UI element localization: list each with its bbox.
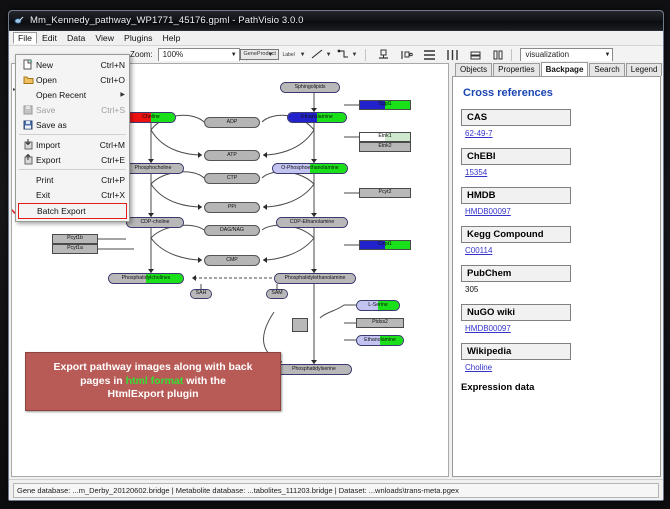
file-menu-item-label: Save [36,105,97,115]
visualization-value: visualization [525,50,569,59]
file-menu-item-shortcut: Ctrl+P [97,175,125,185]
xref-db-nugo-wiki: NuGO wiki [461,304,571,321]
node-label: Pcyt1a [53,246,97,251]
menu-data[interactable]: Data [62,32,90,44]
pathway-complex-box[interactable] [292,318,308,332]
file-menu-item-shortcut: Ctrl+N [97,60,125,70]
node-label: Sphingolipids [281,85,339,90]
node-label: DAG/NAG [205,228,259,233]
connector-dropdown-icon[interactable]: ▼ [352,52,358,58]
window-titlebar: Mm_Kennedy_pathway_WP1771_45176.gpml - P… [9,11,663,31]
visualization-combo[interactable]: visualization ▼ [520,48,613,62]
file-menu-item-label: New [36,60,97,70]
side-panel-tabs: Objects Properties Backpage Search Legen… [452,63,661,76]
node-label: CTP [205,176,259,181]
node-label: Ethanolamine [357,338,403,343]
gene-node-etnk1[interactable]: Etnk1 [359,132,411,142]
xref-link[interactable]: C00114 [465,246,492,255]
align-top-icon[interactable] [376,48,390,61]
open-folder-icon [20,74,36,85]
node-label: Phosphatidylcholines [109,276,183,281]
pathvisio-window: Mm_Kennedy_pathway_WP1771_45176.gpml - P… [8,10,664,501]
metabolite-node-ethanolamine[interactable]: Ethanolamine [356,335,404,346]
statusbar: Gene database: ...m_Derby_20120602.bridg… [9,479,663,500]
callout-line-2b: with the [183,375,226,387]
tab-legend[interactable]: Legend [626,63,663,76]
callout-line-3: HtmlExport plugin [108,388,199,400]
file-menu-item-label: Exit [36,190,97,200]
file-menu-item-open-recent[interactable]: Open Recent▶ [16,87,129,102]
file-menu-item-export[interactable]: ExportCtrl+E [16,152,129,167]
node-label: Ptdss2 [357,320,403,325]
menu-separator [19,134,126,135]
file-menu-item-shortcut: Ctrl+M [96,140,125,150]
metabolite-node-sam[interactable]: SAM [266,289,288,299]
gene-node-sgpl1[interactable]: Sgpl1 [359,100,411,110]
metabolite-node-sah[interactable]: SAH [190,289,212,299]
xref-link[interactable]: Choline [465,363,492,372]
new-document-icon [20,59,36,70]
menubar: File Edit Data View Plugins Help [9,31,663,46]
file-menu-item-save-as[interactable]: Save as [16,117,129,132]
menu-view[interactable]: View [90,32,119,44]
distribute-horizontal-icon[interactable] [445,48,459,61]
xref-value-wikipedia[interactable]: Choline [465,363,652,372]
xref-db-hmdb: HMDB [461,187,571,204]
tab-properties[interactable]: Properties [493,63,539,76]
xref-db-chebi: ChEBI [461,148,571,165]
node-label: Etnk1 [360,134,410,139]
tab-search[interactable]: Search [589,63,624,76]
xref-link[interactable]: HMDB00097 [465,324,511,333]
node-label: SAM [267,291,287,296]
metabolite-node-phosphocholine[interactable]: Phosphocholine [122,163,184,174]
node-label: CDP-Ethanolamine [277,220,347,225]
window-title: Mm_Kennedy_pathway_WP1771_45176.gpml - P… [30,15,304,26]
metabolite-node-phosphatidylethanolamine[interactable]: Phosphatidylethanolamine [274,273,356,284]
file-menu-popup: NewCtrl+NOpenCtrl+OOpen Recent▶SaveCtrl+… [15,54,130,222]
save-icon [20,105,36,115]
file-menu-item-shortcut: Ctrl+S [97,105,125,115]
node-label: Choline [127,115,175,120]
file-menu-item-label: Export [36,155,97,165]
file-menu-item-shortcut: Ctrl+E [97,155,125,165]
node-label: PPi [205,205,259,210]
node-label: Sgpl1 [360,102,410,107]
datanode-tool-button[interactable]: GeneProduct [253,48,267,61]
node-label: SAH [191,291,211,296]
backpage-content: Cross references CAS62-49-7ChEBI15354HMD… [452,76,661,477]
status-text: Gene database: ...m_Derby_20120602.bridg… [13,483,659,498]
node-label: CMP [205,258,259,263]
cofactor-node-atp[interactable]: ATP [204,150,260,161]
gene-node-pcyt2[interactable]: Pcyt2 [359,188,411,198]
node-label: Etnk2 [360,144,410,149]
expression-data-heading: Expression data [461,382,652,393]
gene-node-cept1[interactable]: Cept1 [359,240,411,250]
xref-value-chebi[interactable]: 15354 [465,168,652,177]
cofactor-node-ppi[interactable]: PPi [204,202,260,213]
xref-db-pubchem: PubChem [461,265,571,282]
label-tool-button[interactable]: Label [279,48,299,61]
cofactor-node-cmp[interactable]: CMP [204,255,260,266]
pathvisio-icon [14,15,25,26]
distribute-vertical-icon[interactable] [422,48,436,61]
gene-node-ptdss2[interactable]: Ptdss2 [356,318,404,328]
menu-file[interactable]: File [13,32,37,44]
callout-line-2a: pages in [80,375,126,387]
file-menu-item-label: Print [36,175,97,185]
metabolite-node-cdp-choline[interactable]: CDP-choline [126,217,184,228]
line-dropdown-icon[interactable]: ▼ [326,52,332,58]
menu-edit[interactable]: Edit [37,32,62,44]
cofactor-node-ctp[interactable]: CTP [204,173,260,184]
export-icon [20,154,36,165]
chevron-down-icon-2: ▼ [605,52,611,58]
label-dropdown-icon[interactable]: ▼ [300,52,306,58]
xref-db-kegg-compound: Kegg Compound [461,226,571,243]
connector-tool-button[interactable] [337,48,351,61]
metabolite-node-phosphatidylserine[interactable]: Phosphatidylserine [276,364,352,375]
node-label: CDP-choline [127,220,183,225]
metabolite-node-l-serine[interactable]: L-Serine [356,300,400,311]
same-width-icon[interactable] [468,48,482,61]
cofactor-node-adp[interactable]: ADP [204,117,260,128]
line-tool-button[interactable] [311,48,325,61]
metabolite-node-ethanolamine[interactable]: Ethanolamine [287,112,347,123]
zoom-value: 100% [163,50,183,59]
file-menu-item-label: Save as [36,120,125,130]
xref-db-wikipedia: Wikipedia [461,343,571,360]
file-menu-item-label: Open Recent [36,90,120,100]
toolbar-separator-3 [511,49,512,61]
cofactor-node-dag-nag[interactable]: DAG/NAG [204,225,260,236]
node-label: Ethanolamine [288,115,346,120]
tab-objects[interactable]: Objects [455,63,492,76]
xref-value-pubchem: 305 [465,285,652,294]
file-menu-item-label: Batch Export [37,206,124,216]
xref-link[interactable]: 15354 [465,168,487,177]
node-label: Cept1 [360,242,410,247]
tab-backpage[interactable]: Backpage [541,62,589,77]
node-label: Phosphocholine [123,166,183,171]
zoom-combo[interactable]: 100% ▼ [158,48,240,62]
submenu-arrow-icon: ▶ [120,91,125,98]
callout-line-1: Export pathway images along with back [54,361,253,373]
file-menu-item-open[interactable]: OpenCtrl+O [16,72,129,87]
cross-references-heading: Cross references [463,87,652,99]
file-menu-item-shortcut: Ctrl+O [96,75,125,85]
save-as-icon [20,120,36,130]
node-label: ATP [205,153,259,158]
metabolite-node-o-phosphoethanolamine[interactable]: O-Phosphoethanolamine [272,163,348,174]
xref-link[interactable]: HMDB00097 [465,207,511,216]
xref-link[interactable]: 62-49-7 [465,129,493,138]
node-label: L-Serine [357,303,399,308]
file-menu-item-print[interactable]: PrintCtrl+P [16,172,129,187]
align-left-icon[interactable] [399,48,413,61]
chevron-down-icon: ▼ [231,52,237,58]
annotation-callout: Export pathway images along with back pa… [25,352,281,411]
gene-node-pcyt1b[interactable]: Pcyt1b [52,234,98,244]
file-menu-item-label: Open [36,75,96,85]
file-menu-item-new[interactable]: NewCtrl+N [16,57,129,72]
file-menu-item-import[interactable]: ImportCtrl+M [16,137,129,152]
side-panel: Objects Properties Backpage Search Legen… [452,63,661,477]
callout-line-2-highlight: html format [126,375,184,387]
xref-db-cas: CAS [461,109,571,126]
file-menu-item-exit[interactable]: ExitCtrl+X [16,187,129,202]
metabolite-node-phosphatidylcholines[interactable]: Phosphatidylcholines [108,273,184,284]
same-height-icon[interactable] [491,48,505,61]
label-tool-label: Label [283,52,295,58]
file-menu-item-save: SaveCtrl+S [16,102,129,117]
xref-value-cas[interactable]: 62-49-7 [465,129,652,138]
metabolite-node-cdp-ethanolamine[interactable]: CDP-Ethanolamine [276,217,348,228]
node-label: ADP [205,120,259,125]
node-label: Pcyt2 [360,190,410,195]
menu-help[interactable]: Help [158,32,186,44]
node-label: O-Phosphoethanolamine [273,166,347,171]
node-label: Phosphatidylserine [277,367,351,372]
node-label: Phosphatidylethanolamine [275,276,355,281]
gene-node-etnk2[interactable]: Etnk2 [359,142,411,152]
file-menu-item-shortcut: Ctrl+X [97,190,125,200]
file-menu-item-batch-export[interactable]: Batch Export [18,203,127,219]
gene-node-pcyt1a[interactable]: Pcyt1a [52,244,98,254]
toolbar-separator-2 [365,49,366,61]
menu-separator [19,169,126,170]
import-icon [20,139,36,150]
xref-value-hmdb[interactable]: HMDB00097 [465,207,652,216]
metabolite-node-choline[interactable]: Choline [126,112,176,123]
zoom-label: Zoom: [130,50,153,59]
datanode-dropdown-icon[interactable]: ▼ [268,52,274,58]
node-label: Pcyt1b [53,236,97,241]
xref-value-nugo-wiki[interactable]: HMDB00097 [465,324,652,333]
metabolite-node-sphingolipids[interactable]: Sphingolipids [280,82,340,93]
file-menu-item-label: Import [36,140,96,150]
menu-plugins[interactable]: Plugins [119,32,158,44]
xref-value-kegg-compound[interactable]: C00114 [465,246,652,255]
